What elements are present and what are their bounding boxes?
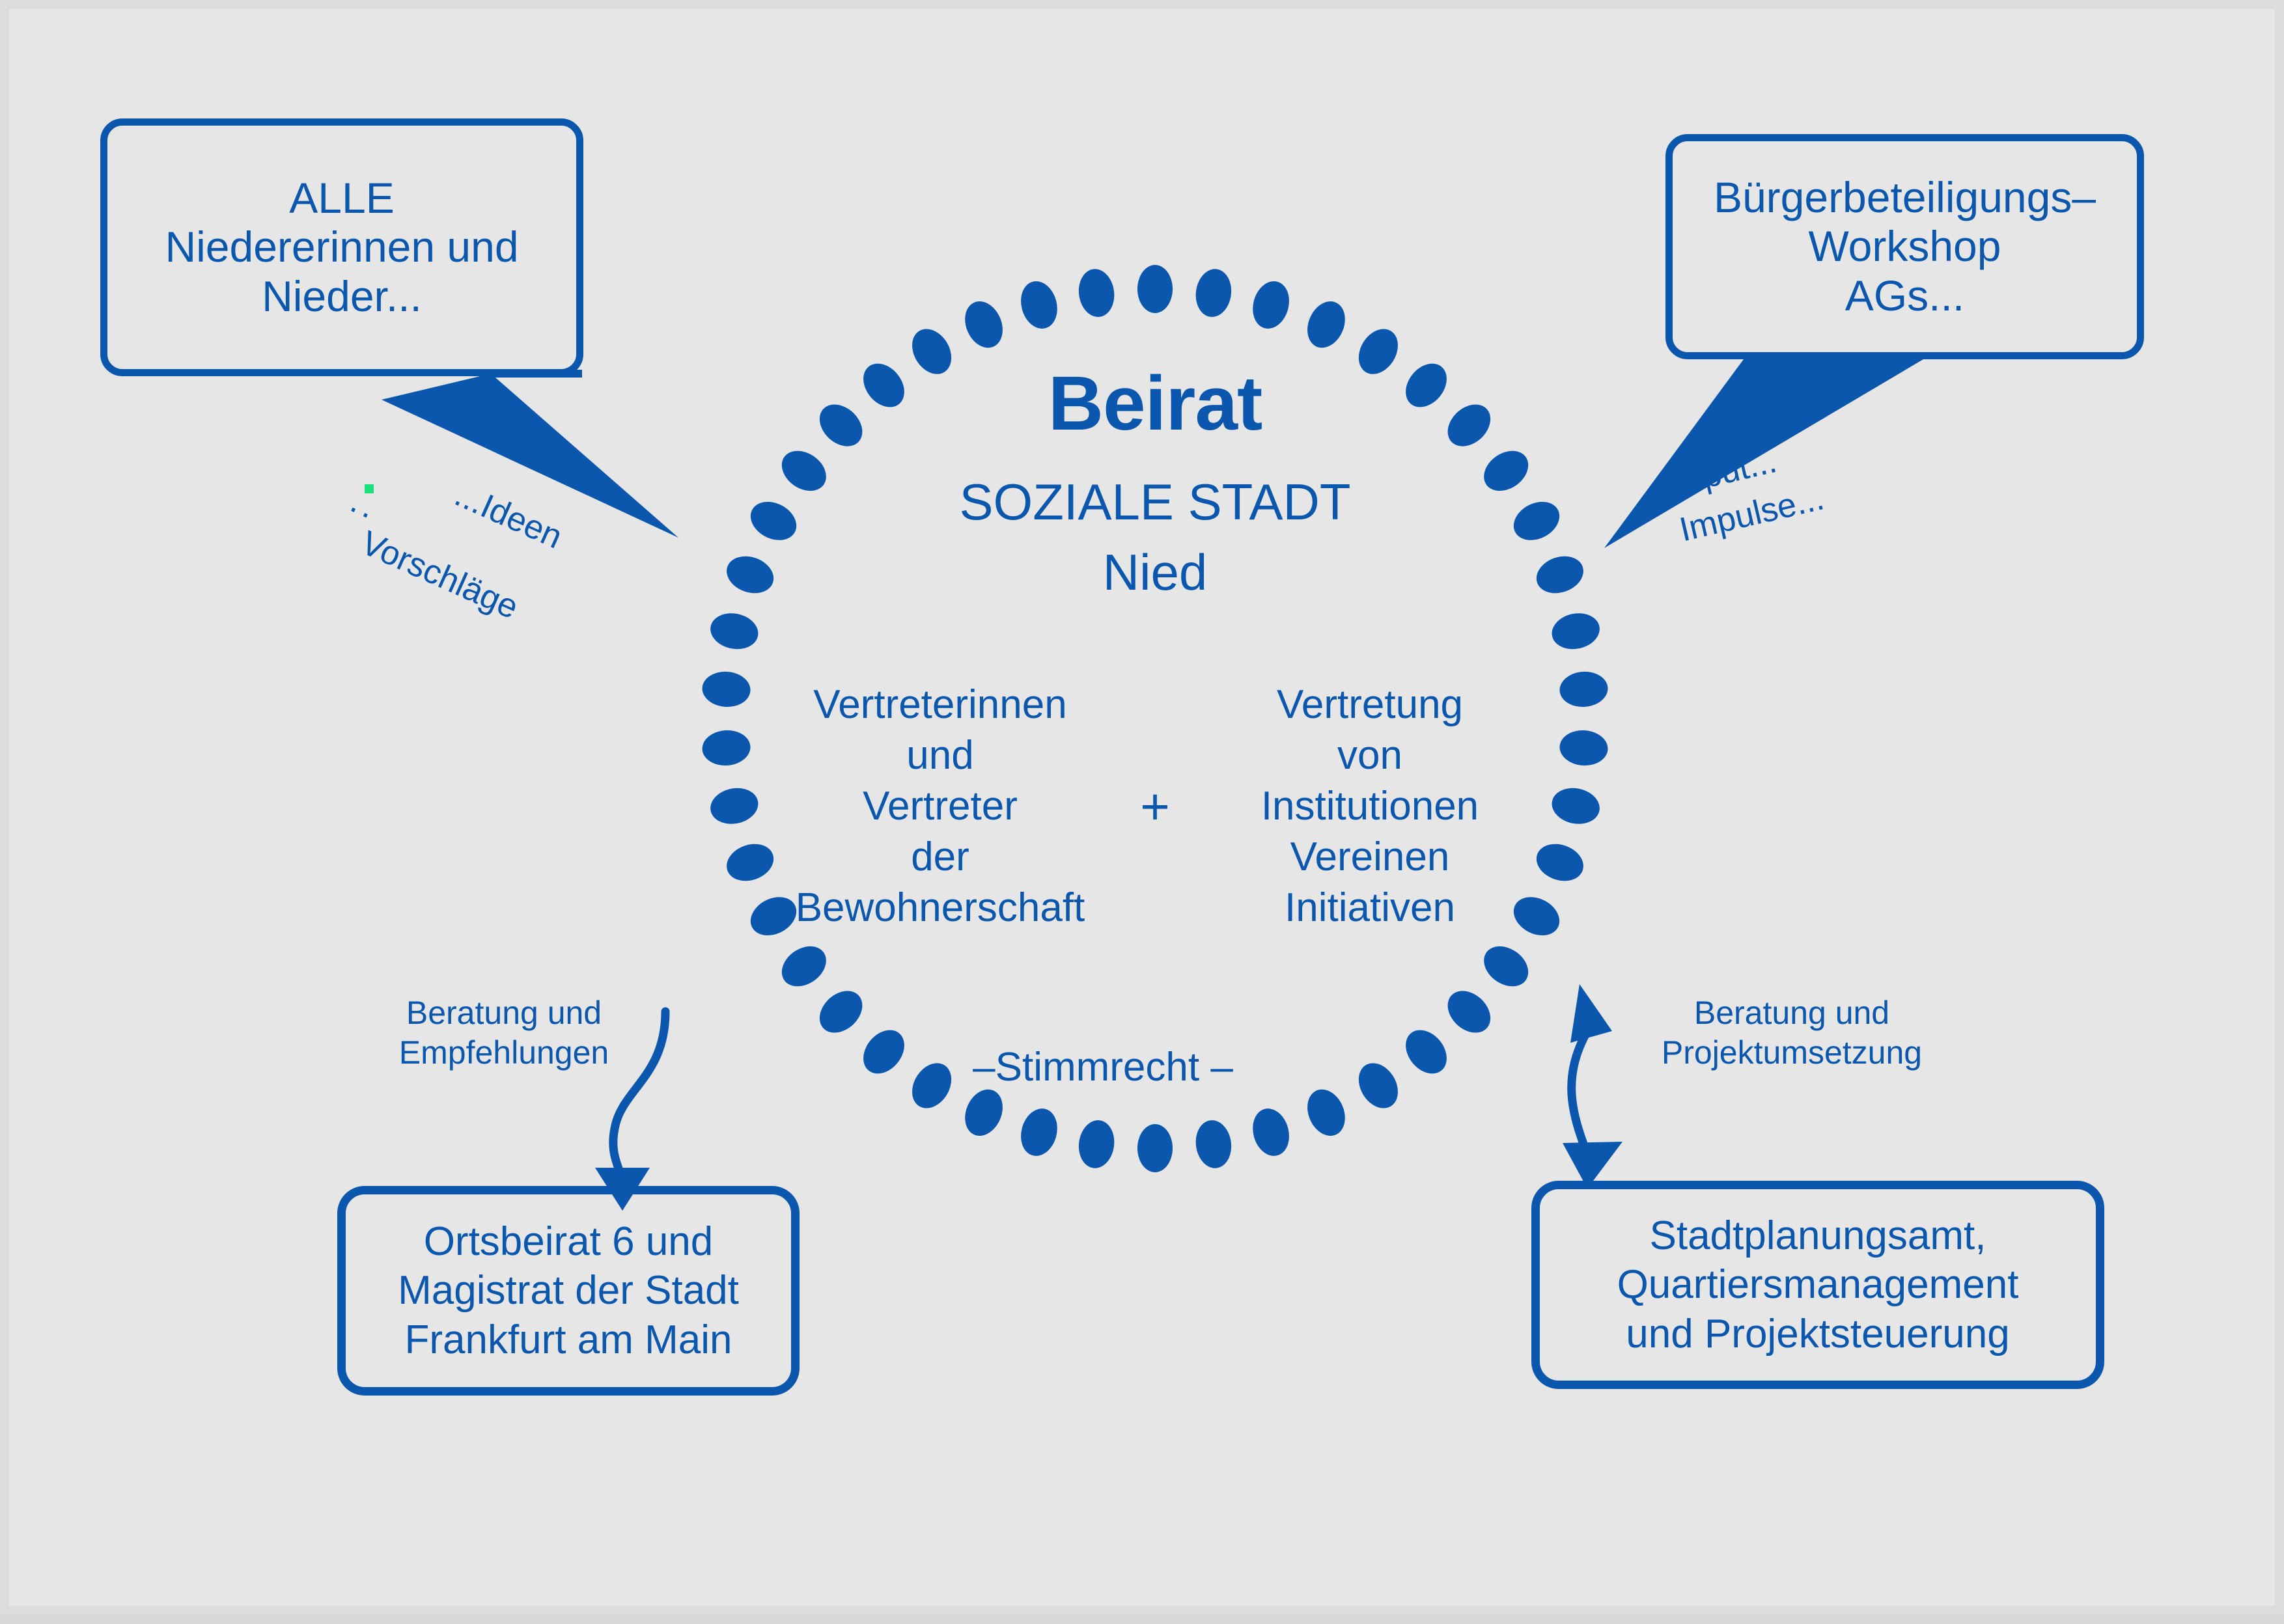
left-col-line-2: und (764, 730, 1116, 781)
arrow-beratung-projektumsetzung (1563, 984, 1622, 1189)
bubble-right-line-2: Workshop (1714, 222, 2096, 271)
label-beratung-empfehlungen-line-1: Beratung und (374, 993, 634, 1033)
center-footer-stimmrecht: –Stimmrecht – (908, 1044, 1298, 1090)
plus-operator: + (1116, 777, 1194, 836)
bubble-left-line-1: ALLE (165, 174, 518, 223)
left-col-line-3: Vertreter (764, 781, 1116, 832)
box-right-line-3: und Projektsteuerung (1617, 1310, 2019, 1359)
left-col-line-4: der (764, 832, 1116, 883)
ring-dot (811, 983, 870, 1041)
bubble-left-line-2: Niedererinnen und (165, 223, 518, 271)
right-col-line-4: Vereinen (1194, 832, 1546, 883)
center-subtitle-line-1: SOZIALE STADT (738, 473, 1572, 532)
box-right-line-2: Quartiersmanagement (1617, 1260, 2019, 1310)
ring-dot (1548, 609, 1602, 654)
ring-dot (1193, 267, 1234, 320)
diagram-canvas: ALLE Niedererinnen und Nieder... Bürgerb… (0, 0, 2284, 1615)
label-beratung-projektumsetzung-line-2: Projektumsetzung (1636, 1033, 1948, 1073)
bubble-left-line-3: Nieder... (165, 272, 518, 321)
box-left-line-2: Magistrat der Stadt (398, 1266, 739, 1315)
box-ortsbeirat-magistrat[interactable]: Ortsbeirat 6 und Magistrat der Stadt Fra… (337, 1186, 800, 1396)
ring-dot (1137, 1124, 1173, 1172)
ring-dot (958, 1084, 1010, 1142)
center-column-left: Vertreterinnen und Vertreter der Bewohne… (764, 680, 1116, 934)
right-col-line-1: Vertretung (1194, 680, 1546, 730)
ring-dot (1016, 1105, 1063, 1161)
bubble-right-line-3: AGs... (1714, 271, 2096, 320)
ring-dot (774, 938, 834, 995)
center-two-columns: Vertreterinnen und Vertreter der Bewohne… (699, 667, 1611, 946)
label-beratung-empfehlungen-line-2: Empfehlungen (374, 1033, 634, 1073)
right-col-line-3: Institutionen (1194, 781, 1546, 832)
right-col-line-5: Initiativen (1194, 883, 1546, 933)
ring-dot (1397, 1022, 1455, 1081)
center-title: Beirat (738, 359, 1572, 448)
label-beratung-projektumsetzung-line-1: Beratung und (1636, 993, 1948, 1033)
ring-dot (1440, 983, 1499, 1041)
ring-dot (1016, 277, 1063, 333)
center-column-right: Vertretung von Institutionen Vereinen In… (1194, 680, 1546, 934)
right-col-line-2: von (1194, 730, 1546, 781)
ring-dot (1476, 938, 1536, 995)
ring-dot (1351, 1056, 1406, 1115)
ring-dot (1137, 265, 1173, 313)
ring-dot (1300, 1084, 1352, 1142)
ring-dot (958, 296, 1010, 353)
ring-dot (855, 1022, 913, 1081)
speech-bubble-residents[interactable]: ALLE Niedererinnen und Nieder... (100, 118, 583, 376)
ring-dot (1247, 277, 1294, 333)
ring-dot (1076, 1118, 1117, 1171)
bubble-right-line-1: Bürgerbeteiligungs– (1714, 173, 2096, 222)
label-beratung-projektumsetzung: Beratung und Projektumsetzung (1636, 993, 1948, 1073)
ring-dot (1247, 1105, 1294, 1161)
box-right-line-1: Stadtplanungsamt, (1617, 1211, 2019, 1261)
box-stadtplanungsamt[interactable]: Stadtplanungsamt, Quartiersmanagement un… (1531, 1181, 2104, 1389)
left-col-line-1: Vertreterinnen (764, 680, 1116, 730)
left-col-line-5: Bewohnerschaft (764, 883, 1116, 933)
label-beratung-empfehlungen: Beratung und Empfehlungen (374, 993, 634, 1073)
ring-dot (707, 609, 761, 654)
center-subtitle-line-2: Nied (738, 543, 1572, 602)
ring-dot (1193, 1118, 1234, 1171)
speech-bubble-participation[interactable]: Bürgerbeteiligungs– Workshop AGs... (1665, 134, 2144, 359)
box-left-line-1: Ortsbeirat 6 und (398, 1217, 739, 1267)
ring-dot (1076, 267, 1117, 320)
box-left-line-3: Frankfurt am Main (398, 1315, 739, 1365)
ring-dot (1300, 296, 1352, 353)
